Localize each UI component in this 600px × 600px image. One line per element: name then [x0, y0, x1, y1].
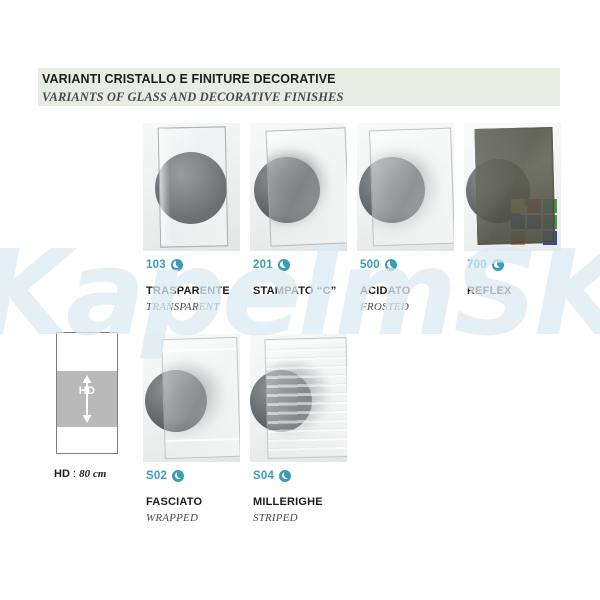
droplet-circle-icon: [172, 470, 184, 482]
swatch-code-row-wrapped: S02: [146, 470, 184, 482]
swatch-tile-transparent[interactable]: [143, 123, 240, 251]
swatch-tile-frosted[interactable]: [357, 123, 454, 251]
hd-caption-sep: :: [70, 468, 79, 480]
swatch-name-en: STRIPED: [253, 512, 298, 524]
droplet-circle-icon: [278, 259, 290, 271]
hd-caption-value: 80 cm: [79, 468, 106, 480]
swatch-name: STAMPATO “C”: [253, 285, 336, 297]
swatch-name-en: FROSTED: [360, 301, 409, 313]
swatch-code-row-striped: S04: [253, 470, 291, 482]
swatch-image-transparent: [143, 123, 240, 251]
swatch-code: S04: [253, 470, 274, 482]
droplet-circle-icon: [171, 259, 183, 271]
swatch-name: MILLERIGHE: [253, 496, 323, 508]
swatch-tile-striped[interactable]: [250, 334, 347, 462]
hd-caption: HD : 80 cm: [54, 468, 106, 480]
swatch-code: 201: [253, 259, 273, 271]
droplet-circle-icon: [279, 470, 291, 482]
swatch-code: 103: [146, 259, 166, 271]
page-title: VARIANTI CRISTALLO E FINITURE DECORATIVE: [42, 72, 336, 86]
swatch-code-row-transparent: 103: [146, 259, 183, 271]
swatch-name: FASCIATO: [146, 496, 202, 508]
swatch-code: S02: [146, 470, 167, 482]
swatch-name-en: WRAPPED: [146, 512, 198, 524]
swatch-code-row-reflex: 700: [467, 259, 504, 271]
swatch-name: TRASPARENTE: [146, 285, 230, 297]
swatch-image-reflex: [464, 123, 561, 251]
swatch-code-row-stampato-c: 201: [253, 259, 290, 271]
swatch-image-striped: [250, 334, 347, 462]
swatch-tile-stampato-c[interactable]: [250, 123, 347, 251]
hd-caption-key: HD: [54, 468, 70, 480]
swatch-name: REFLEX: [467, 285, 512, 297]
swatch-name: ACIDATO: [360, 285, 411, 297]
droplet-circle-icon: [385, 259, 397, 271]
swatch-code: 700: [467, 259, 487, 271]
catalog-page: KapelmSK VARIANTI CRISTALLO E FINITURE D…: [0, 0, 600, 600]
swatch-name-en: TRANSPARENT: [146, 301, 220, 313]
swatch-image-stampato-c: [250, 123, 347, 251]
page-subtitle: VARIANTS OF GLASS AND DECORATIVE FINISHE…: [42, 90, 344, 105]
hd-band-label: HD: [79, 385, 96, 397]
swatch-image-wrapped: [143, 334, 240, 462]
swatch-code-row-frosted: 500: [360, 259, 397, 271]
swatch-image-frosted: [357, 123, 454, 251]
swatch-code: 500: [360, 259, 380, 271]
droplet-circle-icon: [492, 259, 504, 271]
hd-diagram: HD: [56, 332, 118, 454]
swatch-tile-reflex[interactable]: [464, 123, 561, 251]
swatch-tile-wrapped[interactable]: [143, 334, 240, 462]
hd-double-arrow-icon: [82, 375, 93, 423]
